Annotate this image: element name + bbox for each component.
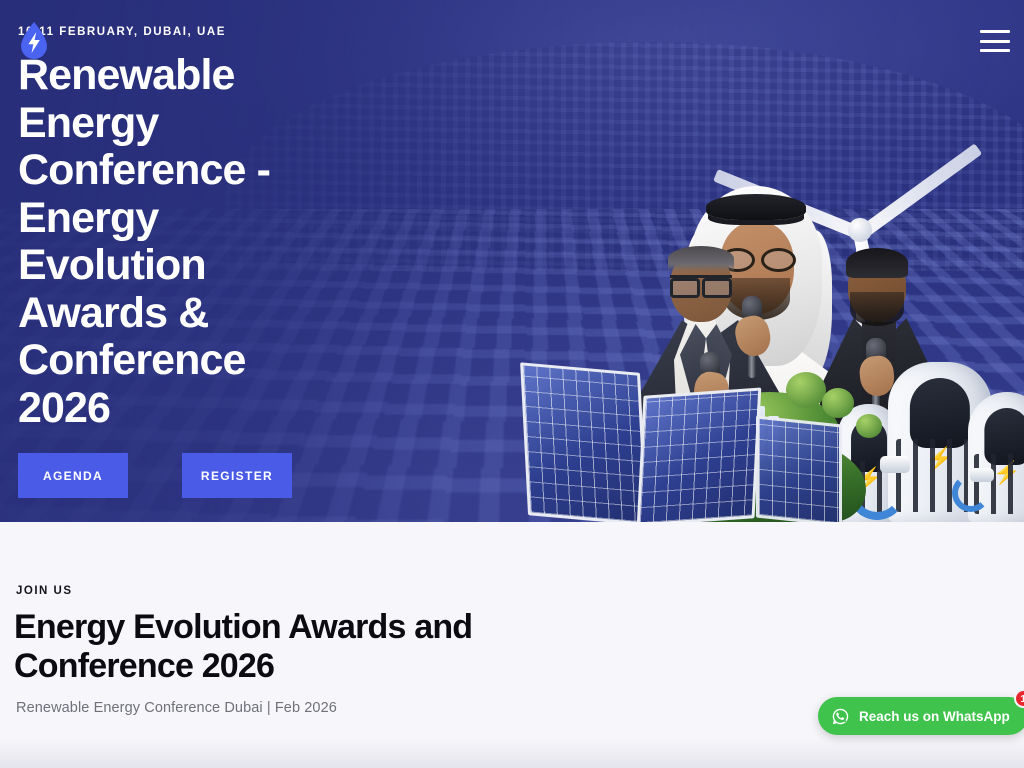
eco-city-tree <box>856 414 882 438</box>
speaker-glasses <box>670 275 732 290</box>
droplet-lightning-logo-icon[interactable] <box>18 21 50 61</box>
whatsapp-label: Reach us on WhatsApp <box>859 709 1010 724</box>
eco-city-tree <box>786 372 826 408</box>
section-subtitle: Renewable Energy Conference Dubai | Feb … <box>16 700 337 716</box>
eco-city-tree <box>822 388 854 418</box>
whatsapp-contact-button[interactable]: Reach us on WhatsApp <box>818 697 1024 735</box>
solar-panel-model <box>637 388 762 522</box>
section-title: Energy Evolution Awards and Conference 2… <box>14 608 574 686</box>
agal-cord <box>706 194 806 220</box>
whatsapp-icon <box>831 707 850 726</box>
hamburger-bar <box>980 30 1010 33</box>
wind-turbine-blade <box>853 143 982 242</box>
solar-panel-model <box>520 362 648 522</box>
charging-plug <box>970 468 994 482</box>
hero-banner: ⚡ ⚡ ⚡ <box>0 0 1024 522</box>
whatsapp-float-wrapper: Reach us on WhatsApp 1 <box>818 697 1024 735</box>
agenda-button[interactable]: AGENDA <box>18 453 128 498</box>
speaker-beard <box>850 292 904 326</box>
register-button[interactable]: REGISTER <box>182 453 292 498</box>
hero-title: Renewable Energy Conference - Energy Evo… <box>18 52 318 432</box>
speaker-hair <box>668 246 734 272</box>
hamburger-bar <box>980 40 1010 43</box>
charging-plug <box>880 456 910 473</box>
solar-panel-model <box>756 415 842 522</box>
hamburger-menu-icon[interactable] <box>980 30 1010 52</box>
charger-display <box>910 378 970 448</box>
hamburger-bar <box>980 49 1010 52</box>
hero-cta-group: AGENDA REGISTER <box>18 453 292 498</box>
page-root: ⚡ ⚡ ⚡ <box>0 0 1024 768</box>
section-eyebrow: JOIN US <box>16 585 73 597</box>
hero-copy-block: Renewable Energy Conference - Energy Evo… <box>18 52 318 432</box>
speaker-hair <box>846 248 908 278</box>
